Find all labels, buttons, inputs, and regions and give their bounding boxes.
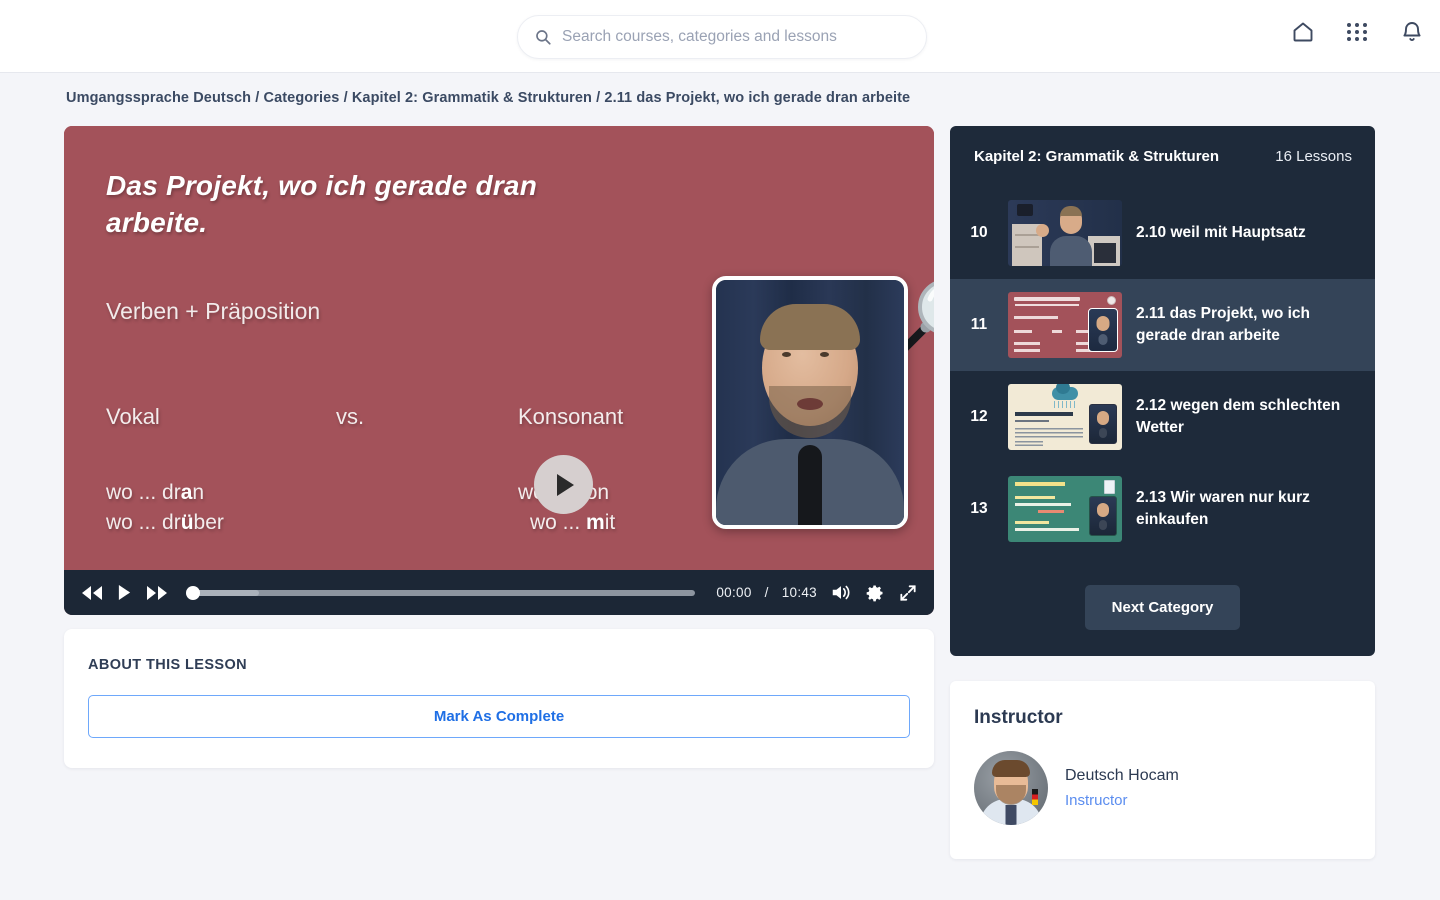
lesson-thumbnail — [1008, 384, 1122, 450]
slide-col-vs: vs. — [336, 404, 364, 430]
lesson-title: 2.10 weil mit Hauptsatz — [1122, 222, 1306, 244]
ex-pre: wo ... dr — [106, 481, 181, 504]
next-category-button[interactable]: Next Category — [1085, 585, 1241, 630]
lesson-title: 2.13 Wir waren nur kurz einkaufen — [1122, 487, 1357, 531]
play-icon — [557, 474, 574, 496]
category-title: Kapitel 2: Grammatik & Strukturen — [974, 148, 1219, 165]
instructor-heading: Instructor — [974, 707, 1351, 729]
lesson-item-10[interactable]: 10 2.10 weil mit Hauptsatz — [950, 187, 1375, 279]
ex-pre: wo ... — [530, 511, 586, 534]
progress-handle[interactable] — [186, 586, 200, 600]
ex-pre: wo ... dr — [106, 511, 181, 534]
lessons-panel-header: Kapitel 2: Grammatik & Strukturen 16 Les… — [950, 148, 1375, 165]
microphone-icon — [798, 445, 822, 525]
play-icon[interactable] — [117, 584, 132, 601]
page-body: Das Projekt, wo ich gerade dran arbeite.… — [0, 106, 1440, 859]
instructor-role-link[interactable]: Instructor — [1065, 792, 1179, 809]
home-icon[interactable] — [1291, 20, 1315, 44]
lesson-thumbnail — [1008, 292, 1122, 358]
lesson-count: 16 Lessons — [1275, 148, 1352, 165]
fullscreen-icon[interactable] — [898, 583, 918, 603]
lesson-item-12[interactable]: 12 2.12 wegen dem schlechten Wetter — [950, 371, 1375, 463]
slide-example-dran: wo ... dran — [106, 478, 224, 508]
next-category-wrap: Next Category — [950, 585, 1375, 630]
time-separator: / — [765, 585, 769, 600]
progress-bar[interactable] — [188, 590, 695, 596]
speaker-eye-left — [782, 352, 791, 357]
search-icon — [534, 28, 552, 46]
lesson-thumbnail — [1008, 476, 1122, 542]
instructor-name: Deutsch Hocam — [1065, 767, 1179, 785]
lesson-thumbnail — [1008, 200, 1122, 266]
lesson-number: 11 — [950, 316, 1008, 334]
about-lesson-card: ABOUT THIS LESSON Mark As Complete — [64, 629, 934, 768]
ex-em: ü — [181, 511, 194, 534]
duration: 10:43 — [782, 585, 817, 600]
settings-gear-icon[interactable] — [865, 583, 885, 603]
lesson-number: 10 — [950, 224, 1008, 242]
ex-em: m — [586, 511, 605, 534]
lessons-panel: Kapitel 2: Grammatik & Strukturen 16 Les… — [950, 126, 1375, 656]
avatar — [974, 751, 1048, 825]
rewind-icon[interactable] — [80, 585, 104, 601]
video-controls: 00:00 / 10:43 — [64, 570, 934, 615]
lesson-title: 2.11 das Projekt, wo ich gerade dran arb… — [1122, 303, 1357, 347]
top-bar-icons — [1291, 20, 1424, 44]
breadcrumb[interactable]: Umgangssprache Deutsch / Categories / Ka… — [0, 73, 1440, 106]
lesson-slide: Das Projekt, wo ich gerade dran arbeite.… — [64, 126, 934, 570]
instructor-info: Deutsch Hocam Instructor — [1065, 767, 1179, 809]
notifications-bell-icon[interactable] — [1400, 20, 1424, 44]
slide-subtitle: Verben + Präposition — [106, 298, 320, 325]
speaker-eye-right — [820, 352, 829, 357]
instructor-card: Instructor Deutsch Hocam Instructor — [950, 681, 1375, 859]
search-bar[interactable] — [517, 15, 927, 59]
lesson-title: 2.12 wegen dem schlechten Wetter — [1122, 395, 1357, 439]
breadcrumb-text: Umgangssprache Deutsch / Categories / Ka… — [66, 90, 910, 106]
top-bar — [0, 0, 1440, 73]
volume-icon[interactable] — [830, 583, 852, 602]
slide-comparison-row: Vokal vs. Konsonant — [106, 404, 706, 430]
mark-as-complete-button[interactable]: Mark As Complete — [88, 695, 910, 738]
slide-example-drueber: wo ... drüber — [106, 508, 224, 538]
about-heading: ABOUT THIS LESSON — [88, 657, 910, 673]
instructor-row: Deutsch Hocam Instructor — [974, 751, 1351, 825]
speaker-mouth — [797, 398, 823, 410]
search-input[interactable] — [562, 28, 910, 46]
ex-post: ber — [194, 511, 224, 534]
lesson-item-11[interactable]: 11 2.11 das Projekt, wo ich gerade dran … — [950, 279, 1375, 371]
side-column: Kapitel 2: Grammatik & Strukturen 16 Les… — [950, 126, 1375, 859]
current-time: 00:00 — [716, 585, 751, 600]
lesson-number: 13 — [950, 500, 1008, 518]
slide-col-vokal: Vokal — [106, 404, 160, 429]
speaker-hair — [760, 304, 860, 350]
lesson-item-13[interactable]: 13 2.13 Wir waren nur kurz einkaufen — [950, 463, 1375, 555]
slide-col-konsonant: Konsonant — [518, 404, 623, 430]
play-overlay-button[interactable] — [534, 455, 593, 514]
video-player[interactable]: Das Projekt, wo ich gerade dran arbeite.… — [64, 126, 934, 615]
lesson-number: 12 — [950, 408, 1008, 426]
slide-examples-left: wo ... dran wo ... drüber — [106, 478, 224, 539]
instructor-inset-video — [712, 276, 908, 529]
main-column: Das Projekt, wo ich gerade dran arbeite.… — [64, 126, 934, 768]
ex-post: n — [192, 481, 204, 504]
fast-forward-icon[interactable] — [145, 585, 169, 601]
ex-post: it — [605, 511, 616, 534]
grid-apps-icon[interactable] — [1347, 23, 1368, 41]
ex-em: a — [181, 481, 193, 504]
slide-title: Das Projekt, wo ich gerade dran arbeite. — [106, 168, 636, 242]
